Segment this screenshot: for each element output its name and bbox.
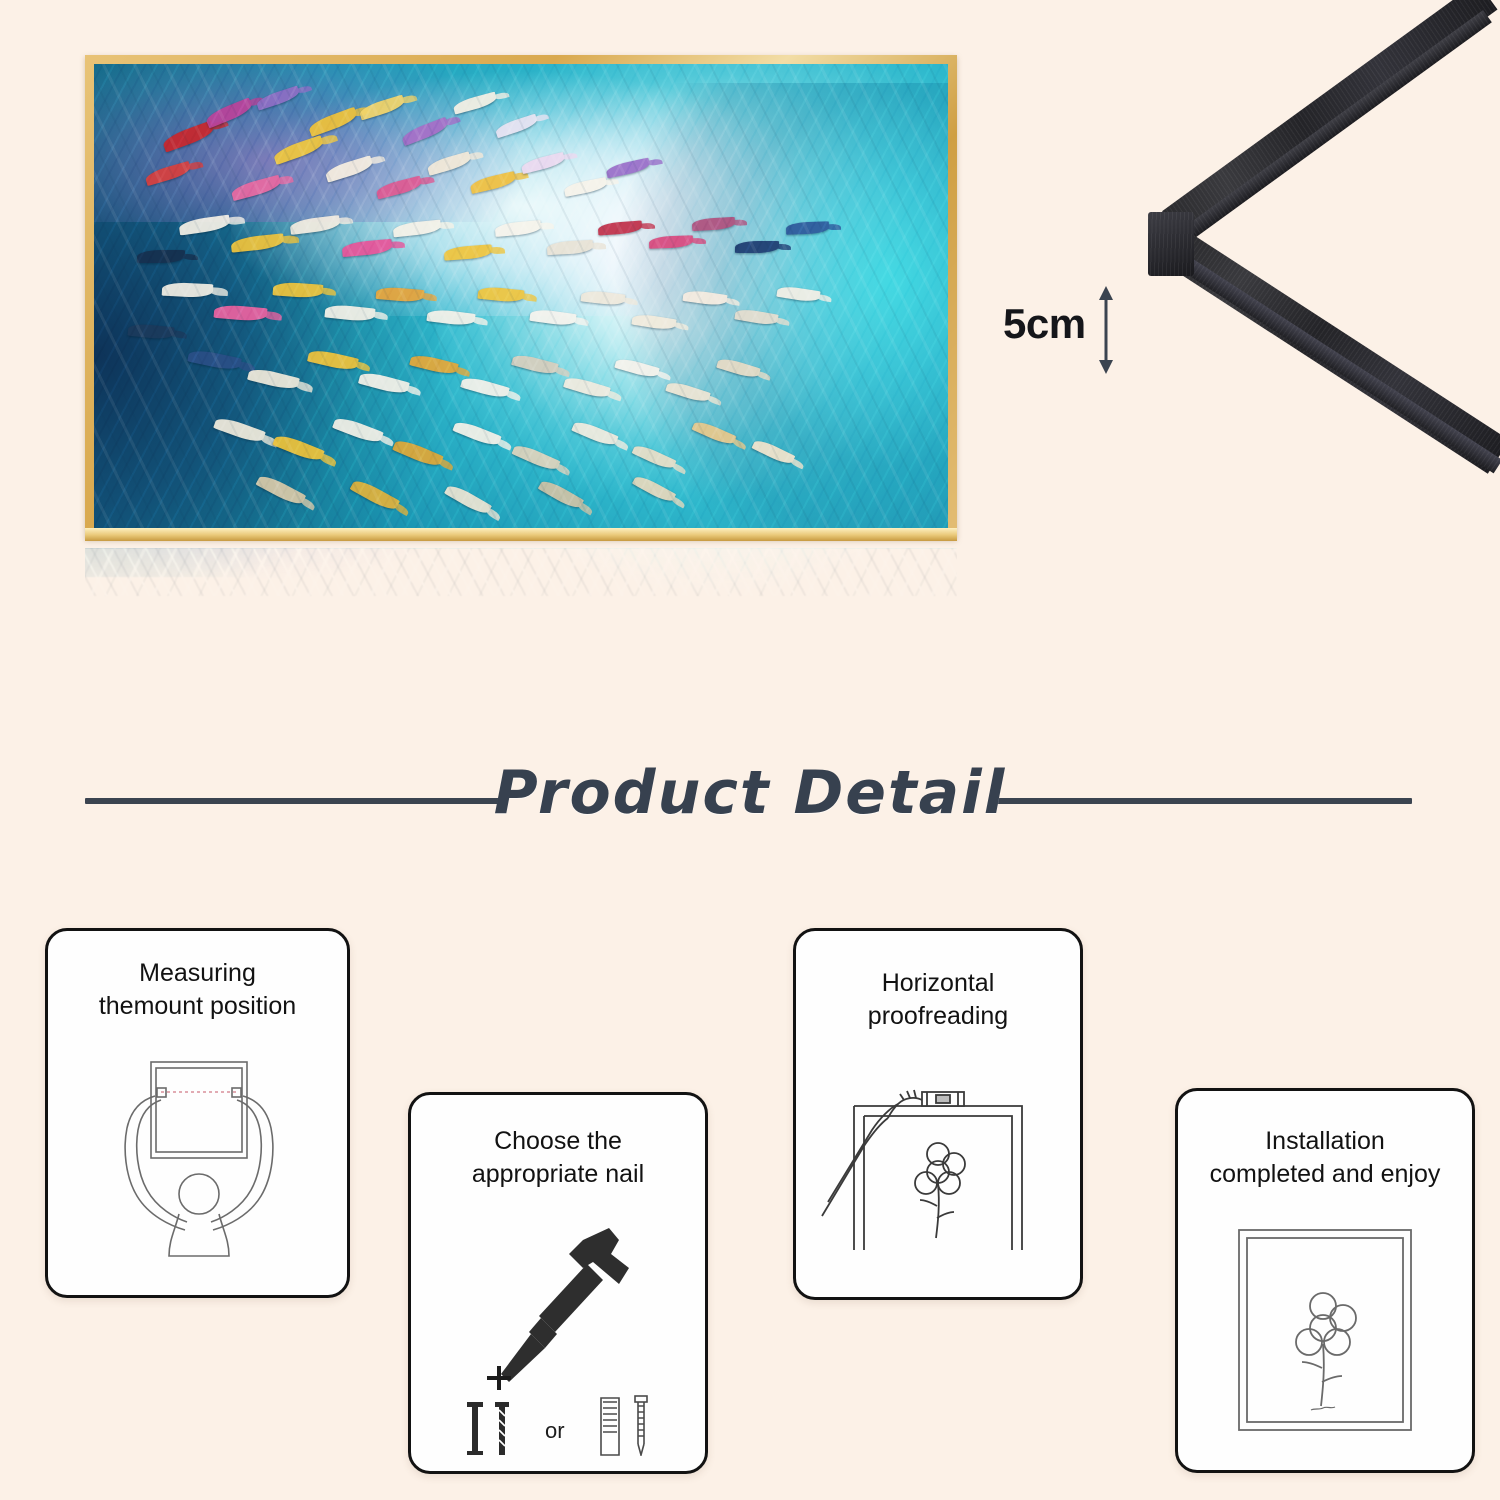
painting-canvas [94, 64, 948, 530]
instruction-card-horizontal-proofreading[interactable]: Horizontal proofreading [793, 928, 1083, 1300]
or-label: or [545, 1418, 565, 1443]
card-title-line2: themount position [99, 990, 296, 1023]
card-illustration [48, 1023, 347, 1295]
frame-bottom-highlight [85, 528, 957, 541]
page-title: Product Detail [0, 758, 1500, 828]
instruction-card-measuring[interactable]: Measuring themount position [45, 928, 350, 1298]
vertical-double-arrow-icon [1093, 286, 1119, 374]
card-title-line2: proofreading [868, 1000, 1008, 1033]
card-title-line2: appropriate nail [472, 1158, 644, 1191]
palette-knife-texture-b [94, 64, 948, 530]
framed-artwork [85, 55, 957, 539]
card-title: Installation completed and enjoy [1196, 1125, 1455, 1191]
card-title: Measuring themount position [85, 957, 310, 1023]
reflection-fade-overlay [85, 548, 957, 893]
card-title: Horizontal proofreading [854, 967, 1022, 1033]
person-holding-frame-measuring-icon [83, 1044, 313, 1274]
section-header: Product Detail [0, 770, 1500, 840]
card-title-line1: Measuring [99, 957, 296, 990]
card-illustration [1178, 1191, 1472, 1470]
card-title-line2: completed and enjoy [1210, 1158, 1441, 1191]
frame-rail-top-bevel [1176, 10, 1492, 245]
product-listing-image: 5cm Product Detail Measuring themount po… [0, 0, 1500, 1500]
card-illustration: or [411, 1191, 705, 1471]
card-illustration [796, 1033, 1080, 1297]
hammer-nail-anchor-icon: or [433, 1206, 683, 1456]
card-title-line1: Choose the [472, 1125, 644, 1158]
instruction-card-installation-complete[interactable]: Installation completed and enjoy [1175, 1088, 1475, 1473]
hand-spirit-level-on-frame-icon [818, 1060, 1058, 1270]
card-title: Choose the appropriate nail [458, 1125, 658, 1191]
black-wood-frame-corner [1120, 0, 1500, 580]
card-title-line1: Horizontal [868, 967, 1008, 1000]
card-title-line1: Installation [1210, 1125, 1441, 1158]
instruction-card-choose-nail[interactable]: Choose the appropriate nail [408, 1092, 708, 1474]
frame-mitre-corner [1148, 212, 1194, 276]
frame-rail-right-bevel [1182, 257, 1500, 473]
artwork-reflection [85, 548, 957, 893]
frame-depth-label: 5cm [1003, 300, 1086, 348]
hung-framed-flower-picture-icon [1215, 1216, 1435, 1446]
